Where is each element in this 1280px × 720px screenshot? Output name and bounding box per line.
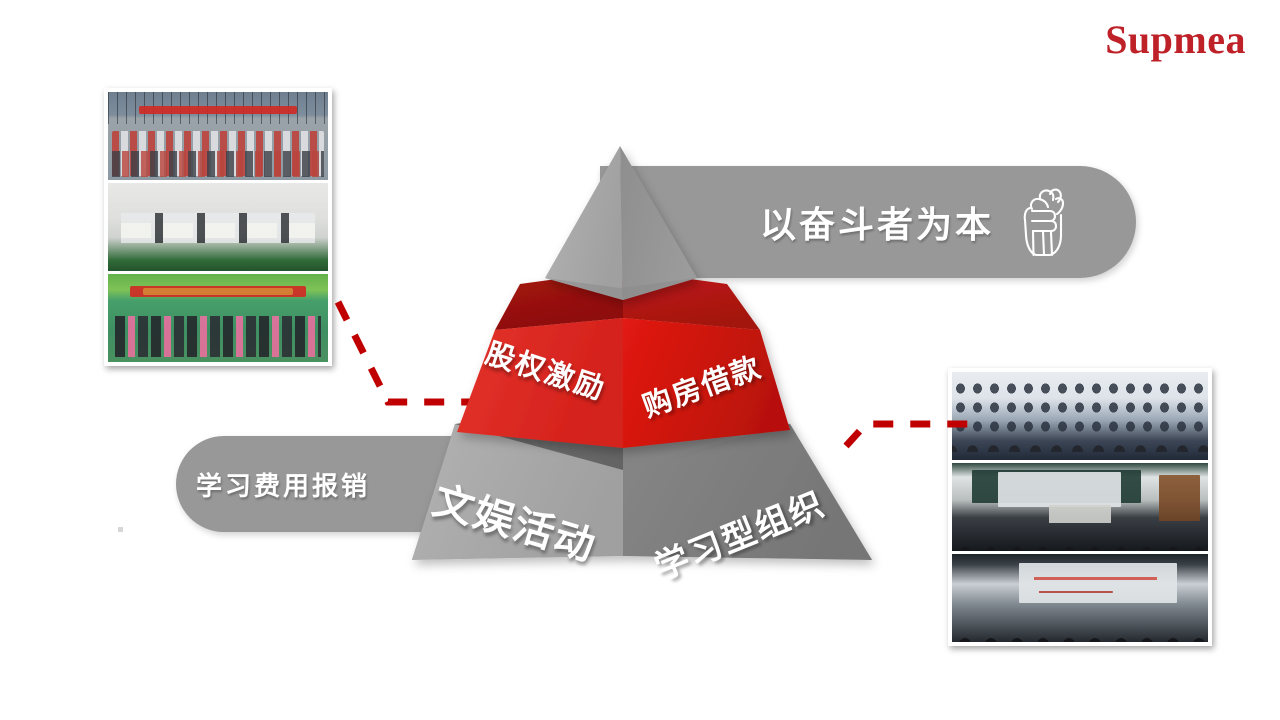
stray-mark xyxy=(118,527,123,532)
slide-canvas: Supmea xyxy=(0,0,1280,720)
pyramid-diagram xyxy=(0,0,1280,720)
pyramid-tier-top[interactable] xyxy=(545,146,697,300)
